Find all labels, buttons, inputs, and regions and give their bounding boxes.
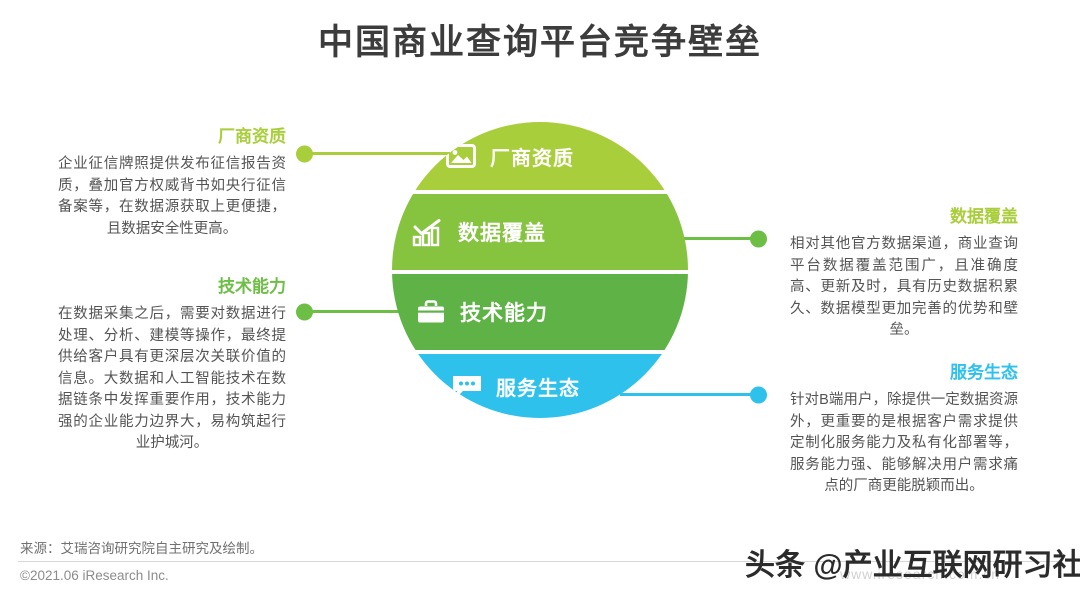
connector-dot — [296, 145, 313, 162]
copyright-note: ©2021.06 iResearch Inc. — [20, 568, 169, 583]
toolbox-icon — [414, 297, 448, 327]
connector-dot — [750, 386, 767, 403]
wheel-clip: 厂商资质 数据覆盖 技术能力 — [392, 122, 688, 418]
section-body: 企业征信牌照提供发布征信报告资质，叠加官方权威背书如央行征信备案等，在数据源获取… — [58, 154, 286, 240]
connector-dot — [750, 230, 767, 247]
competitive-barrier-wheel: 厂商资质 数据覆盖 技术能力 — [392, 122, 688, 418]
section-heading: 数据覆盖 — [790, 206, 1018, 228]
section-heading: 厂商资质 — [58, 126, 286, 148]
page-title: 中国商业查询平台竞争壁垒 — [0, 14, 1080, 65]
wheel-band-technical-capability[interactable]: 技术能力 — [392, 274, 688, 350]
bar-chart-icon — [412, 217, 446, 247]
watermark-text: 头条 @产业互联网研习社 — [745, 540, 1080, 584]
chat-icon — [450, 371, 484, 401]
source-note: 来源：艾瑞咨询研究院自主研究及绘制。 — [20, 537, 263, 557]
wheel-band-service-ecosystem[interactable]: 服务生态 — [392, 354, 688, 418]
wheel-band-label: 服务生态 — [496, 372, 580, 401]
left-section-vendor-qualification: 厂商资质 企业征信牌照提供发布征信报告资质，叠加官方权威背书如央行征信备案等，在… — [58, 126, 286, 240]
right-section-service-ecosystem: 服务生态 针对B端用户，除提供一定数据资源外，更重要的是根据客户需求提供定制化服… — [790, 362, 1018, 498]
wheel-band-label: 技术能力 — [460, 297, 548, 327]
section-body: 在数据采集之后，需要对数据进行处理、分析、建模等操作，最终提供给客户具有更深层次… — [58, 304, 286, 455]
section-body: 针对B端用户，除提供一定数据资源外，更重要的是根据客户需求提供定制化服务能力及私… — [790, 390, 1018, 498]
section-heading: 服务生态 — [790, 362, 1018, 384]
connector-dot — [296, 303, 313, 320]
wheel-band-label: 数据覆盖 — [458, 217, 546, 247]
left-section-technical-capability: 技术能力 在数据采集之后，需要对数据进行处理、分析、建模等操作，最终提供给客户具… — [58, 276, 286, 455]
image-icon — [444, 141, 478, 171]
wheel-band-label: 厂商资质 — [490, 142, 574, 171]
section-body: 相对其他官方数据渠道，商业查询平台数据覆盖范围广，且准确度高、更新及时，具有历史… — [790, 234, 1018, 342]
wheel-band-vendor-qualification[interactable]: 厂商资质 — [392, 122, 688, 190]
wheel-band-data-coverage[interactable]: 数据覆盖 — [392, 194, 688, 270]
section-heading: 技术能力 — [58, 276, 286, 298]
right-section-data-coverage: 数据覆盖 相对其他官方数据渠道，商业查询平台数据覆盖范围广，且准确度高、更新及时… — [790, 206, 1018, 342]
